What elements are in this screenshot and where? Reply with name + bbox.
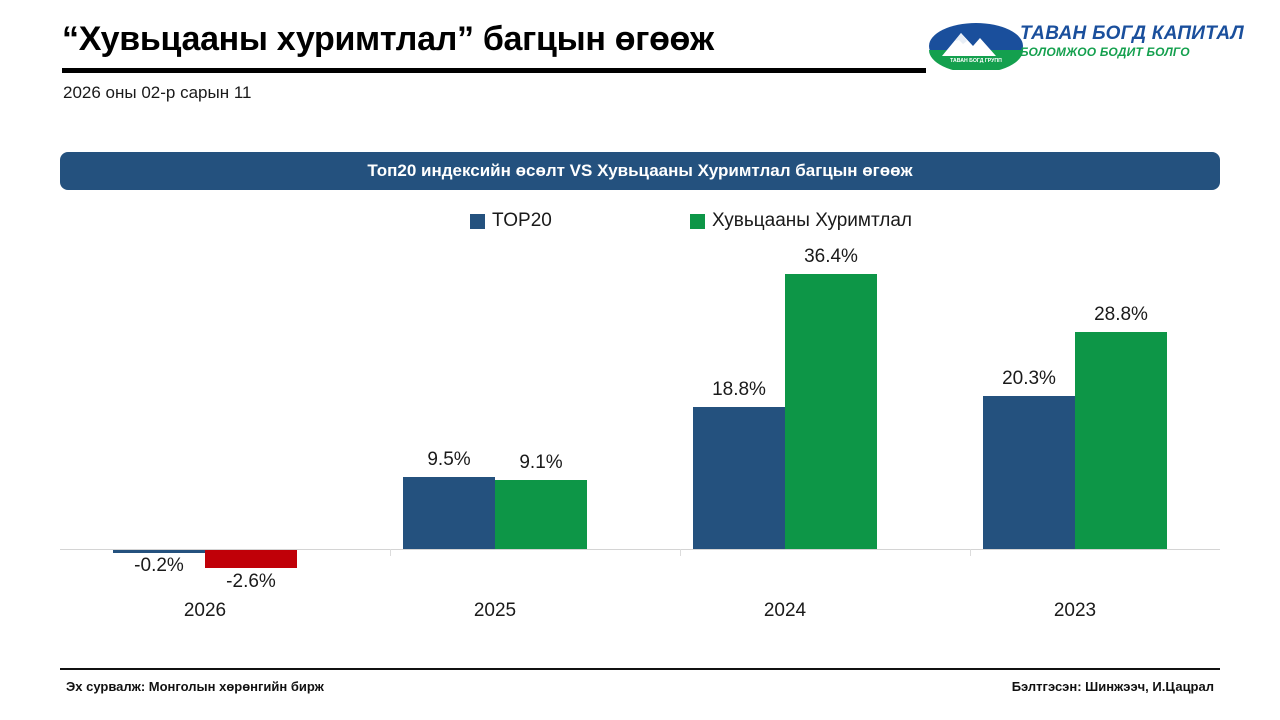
legend-swatch-huvitsaanii-hurimtlal [690, 214, 705, 229]
bar-top20-2023[interactable] [983, 396, 1075, 549]
footer-prepared-by: Бэлтгэсэн: Шинжээч, И.Цацрал [1012, 679, 1214, 694]
chart-legend: TOP20 Хувьцааны Хуримтлал [410, 210, 970, 238]
bar-value-huvitsaanii-hurimtlal-2023: 28.8% [1075, 304, 1167, 326]
chart-header-bar: Топ20 индексийн өсөлт VS Хувьцааны Хурим… [60, 152, 1220, 190]
bar-value-huvitsaanii-hurimtlal-2025: 9.1% [495, 452, 587, 474]
category-label-2026: 2026 [159, 600, 251, 622]
bar-value-huvitsaanii-hurimtlal-2024: 36.4% [785, 246, 877, 268]
footer-source: Эх сурвалж: Монголын хөрөнгийн бирж [66, 679, 324, 694]
bar-value-huvitsaanii-hurimtlal-2026: -2.6% [205, 571, 297, 593]
page-header: “Хувьцааны хуримтлал” багцын өгөөж 2026 … [0, 0, 1280, 120]
bar-top20-2025[interactable] [403, 477, 495, 549]
legend-item-top20[interactable]: TOP20 [470, 210, 552, 232]
bar-huvitsaanii-hurimtlal-2024[interactable] [785, 274, 877, 549]
page-footer: Эх сурвалж: Монголын хөрөнгийн бирж Бэлт… [60, 668, 1220, 708]
chart-plot-area: -0.2% -2.6% 2026 9.5% 9.1% 2025 18.8% 36… [60, 237, 1220, 632]
svg-text:ТАВАН БОГД ГРУПП: ТАВАН БОГД ГРУПП [950, 58, 1002, 64]
company-logo: ТАВАН БОГД ГРУПП ТАВАН БОГД КАПИТАЛ БОЛО… [928, 20, 1220, 72]
legend-item-huvitsaanii-hurimtlal[interactable]: Хувьцааны Хуримтлал [690, 210, 912, 232]
logo-mountain-icon: ТАВАН БОГД ГРУПП [928, 22, 1024, 70]
legend-swatch-top20 [470, 214, 485, 229]
legend-label-top20: TOP20 [492, 210, 552, 232]
title-divider [62, 68, 926, 73]
bar-value-top20-2023: 20.3% [983, 368, 1075, 390]
bar-value-top20-2025: 9.5% [403, 449, 495, 471]
report-date: 2026 оны 02-р сарын 11 [63, 83, 251, 103]
bar-top20-2026[interactable] [113, 550, 205, 553]
logo-name-tagline: БОЛОМЖОО БОДИТ БОЛГО [1020, 45, 1220, 59]
bar-huvitsaanii-hurimtlal-2025[interactable] [495, 480, 587, 549]
bar-huvitsaanii-hurimtlal-2023[interactable] [1075, 332, 1167, 549]
bar-value-top20-2024: 18.8% [693, 379, 785, 401]
axis-tick [390, 549, 391, 556]
page-title: “Хувьцааны хуримтлал” багцын өгөөж [62, 20, 714, 59]
bar-top20-2024[interactable] [693, 407, 785, 549]
axis-tick [680, 549, 681, 556]
chart-panel: Топ20 индексийн өсөлт VS Хувьцааны Хурим… [60, 152, 1220, 632]
category-label-2024: 2024 [739, 600, 831, 622]
category-label-2025: 2025 [449, 600, 541, 622]
footer-divider [60, 668, 1220, 670]
logo-name-primary: ТАВАН БОГД КАПИТАЛ [1020, 23, 1220, 45]
category-label-2023: 2023 [1029, 600, 1121, 622]
logo-wordmark: ТАВАН БОГД КАПИТАЛ БОЛОМЖОО БОДИТ БОЛГО [1020, 23, 1220, 59]
bar-huvitsaanii-hurimtlal-2026[interactable] [205, 550, 297, 568]
axis-tick [970, 549, 971, 556]
chart-title: Топ20 индексийн өсөлт VS Хувьцааны Хурим… [367, 161, 912, 181]
bar-value-top20-2026: -0.2% [113, 555, 205, 577]
legend-label-huvitsaanii-hurimtlal: Хувьцааны Хуримтлал [712, 210, 912, 232]
